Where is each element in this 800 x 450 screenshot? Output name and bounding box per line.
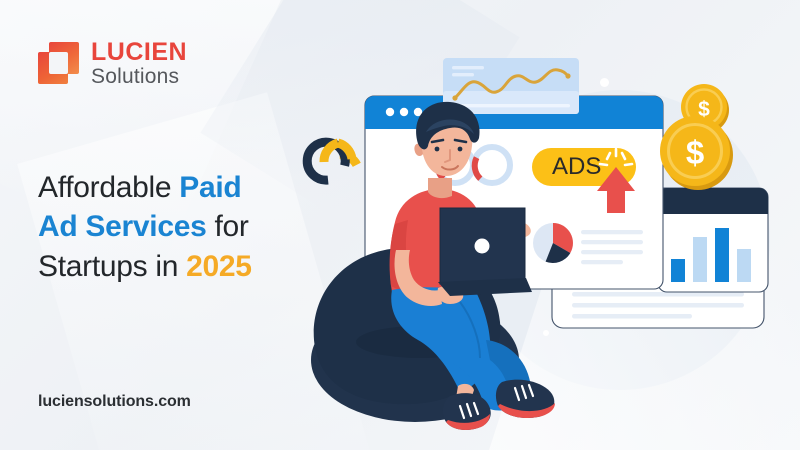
coin-large-symbol: $ — [686, 134, 704, 171]
headline-line-3: Startups in 2025 — [38, 247, 252, 286]
page-title: Affordable Paid Ad Services for Startups… — [38, 168, 252, 286]
laptop-logo-icon — [475, 239, 490, 254]
decorative-donut-outside — [305, 140, 356, 182]
brand-logo[interactable]: LUCIEN Solutions — [38, 40, 187, 87]
laptop — [438, 208, 532, 296]
hero-illustration: ADS — [300, 40, 800, 440]
ads-badge-label: ADS — [552, 153, 601, 180]
small-pie-chart — [533, 223, 573, 263]
headline-line-3-accent: 2025 — [186, 250, 252, 283]
headline-line-2-plain: for — [206, 210, 248, 243]
headline-line-3-plain: Startups in — [38, 250, 186, 283]
headline-line-2: Ad Services for — [38, 207, 252, 246]
coin-large: $ — [660, 116, 733, 190]
website-url[interactable]: luciensolutions.com — [38, 393, 191, 411]
headline-line-1-plain: Affordable — [38, 171, 179, 204]
bar-chart-card — [658, 188, 768, 292]
headline-line-2-accent: Ad Services — [38, 210, 206, 243]
brand-logo-wordmark: LUCIEN Solutions — [91, 40, 187, 87]
brand-name-secondary: Solutions — [91, 66, 187, 87]
headline-line-1: Affordable Paid — [38, 168, 252, 207]
marketing-banner: LUCIEN Solutions Affordable Paid Ad Serv… — [0, 0, 800, 450]
shoe-right — [496, 380, 555, 418]
headline-line-1-accent: Paid — [179, 171, 241, 204]
brand-name-primary: LUCIEN — [91, 40, 187, 65]
overlapping-squares-icon — [38, 42, 80, 86]
window-control-dots — [386, 108, 422, 116]
